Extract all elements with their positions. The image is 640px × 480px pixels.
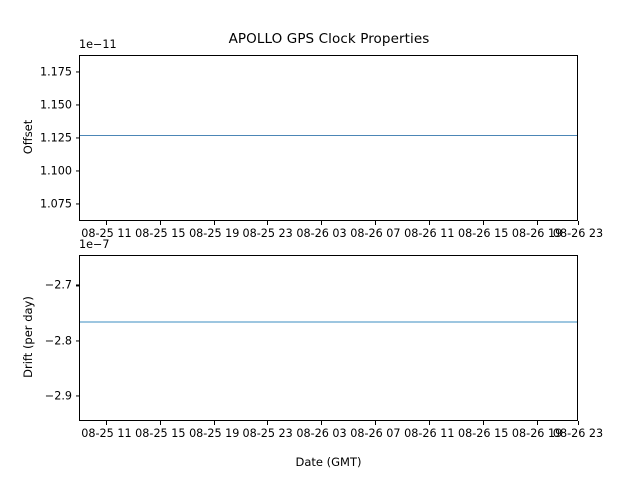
x-tick-mark-offset-4: [321, 221, 322, 225]
x-tick-label-drift-9: 08-26 23: [553, 427, 603, 440]
x-tick-mark-offset-6: [429, 221, 430, 225]
x-tick-mark-offset-2: [214, 221, 215, 225]
y-tick-label-offset-1: 1.100: [17, 165, 72, 178]
x-tick-label-offset-0: 08-25 11: [81, 227, 131, 240]
y-tick-mark-offset-3: [76, 104, 80, 105]
x-tick-label-drift-1: 08-25 15: [135, 427, 185, 440]
y-tick-mark-offset-0: [76, 204, 80, 205]
x-tick-mark-offset-0: [106, 221, 107, 225]
y-tick-mark-offset-1: [76, 171, 80, 172]
y-tick-label-offset-2: 1.125: [17, 132, 72, 145]
x-tick-mark-drift-2: [214, 421, 215, 425]
x-tick-mark-drift-0: [106, 421, 107, 425]
x-tick-label-offset-3: 08-25 23: [242, 227, 292, 240]
x-tick-label-drift-2: 08-25 19: [189, 427, 239, 440]
x-tick-label-drift-5: 08-26 07: [350, 427, 400, 440]
y-tick-mark-drift-2: [76, 396, 80, 397]
y-tick-label-offset-3: 1.150: [17, 98, 72, 111]
y-tick-mark-offset-4: [76, 71, 80, 72]
x-tick-mark-drift-4: [321, 421, 322, 425]
x-tick-mark-drift-6: [429, 421, 430, 425]
x-tick-label-offset-1: 08-25 15: [135, 227, 185, 240]
axes-drift: [79, 255, 578, 421]
y-tick-mark-drift-0: [76, 285, 80, 286]
x-tick-label-drift-7: 08-26 15: [458, 427, 508, 440]
y-tick-label-drift-1: −2.8: [17, 334, 72, 347]
figure-canvas: APOLLO GPS Clock Properties 1e−11 Offset…: [0, 0, 640, 480]
x-tick-mark-offset-7: [483, 221, 484, 225]
y-offset-text-offset: 1e−11: [79, 38, 117, 51]
x-tick-label-offset-5: 08-26 07: [350, 227, 400, 240]
x-tick-label-drift-0: 08-25 11: [81, 427, 131, 440]
x-tick-mark-offset-1: [160, 221, 161, 225]
x-tick-label-offset-4: 08-26 03: [296, 227, 346, 240]
x-axis-label: Date (GMT): [79, 455, 578, 469]
x-tick-label-offset-7: 08-26 15: [458, 227, 508, 240]
x-tick-mark-offset-5: [375, 221, 376, 225]
x-tick-label-drift-3: 08-25 23: [242, 427, 292, 440]
chart-title: APOLLO GPS Clock Properties: [79, 31, 579, 47]
x-tick-label-drift-6: 08-26 11: [404, 427, 454, 440]
y-tick-label-offset-0: 1.075: [17, 198, 72, 211]
y-tick-mark-offset-2: [76, 137, 80, 138]
y-tick-label-offset-4: 1.175: [17, 65, 72, 78]
y-tick-label-drift-2: −2.9: [17, 390, 72, 403]
x-tick-mark-drift-7: [483, 421, 484, 425]
x-tick-mark-drift-8: [537, 421, 538, 425]
x-tick-mark-drift-3: [267, 421, 268, 425]
x-tick-label-offset-9: 08-26 23: [553, 227, 603, 240]
x-tick-mark-drift-1: [160, 421, 161, 425]
x-tick-mark-drift-5: [375, 421, 376, 425]
x-tick-mark-offset-8: [537, 221, 538, 225]
x-tick-label-offset-6: 08-26 11: [404, 227, 454, 240]
y-tick-label-drift-0: −2.7: [17, 279, 72, 292]
x-tick-mark-offset-9: [578, 221, 579, 225]
data-line-drift: [80, 321, 577, 323]
x-tick-mark-drift-9: [578, 421, 579, 425]
y-tick-mark-drift-1: [76, 340, 80, 341]
axes-offset: [79, 55, 578, 221]
x-tick-label-drift-4: 08-26 03: [296, 427, 346, 440]
x-tick-mark-offset-3: [267, 221, 268, 225]
x-tick-label-offset-2: 08-25 19: [189, 227, 239, 240]
data-line-offset: [80, 135, 577, 136]
